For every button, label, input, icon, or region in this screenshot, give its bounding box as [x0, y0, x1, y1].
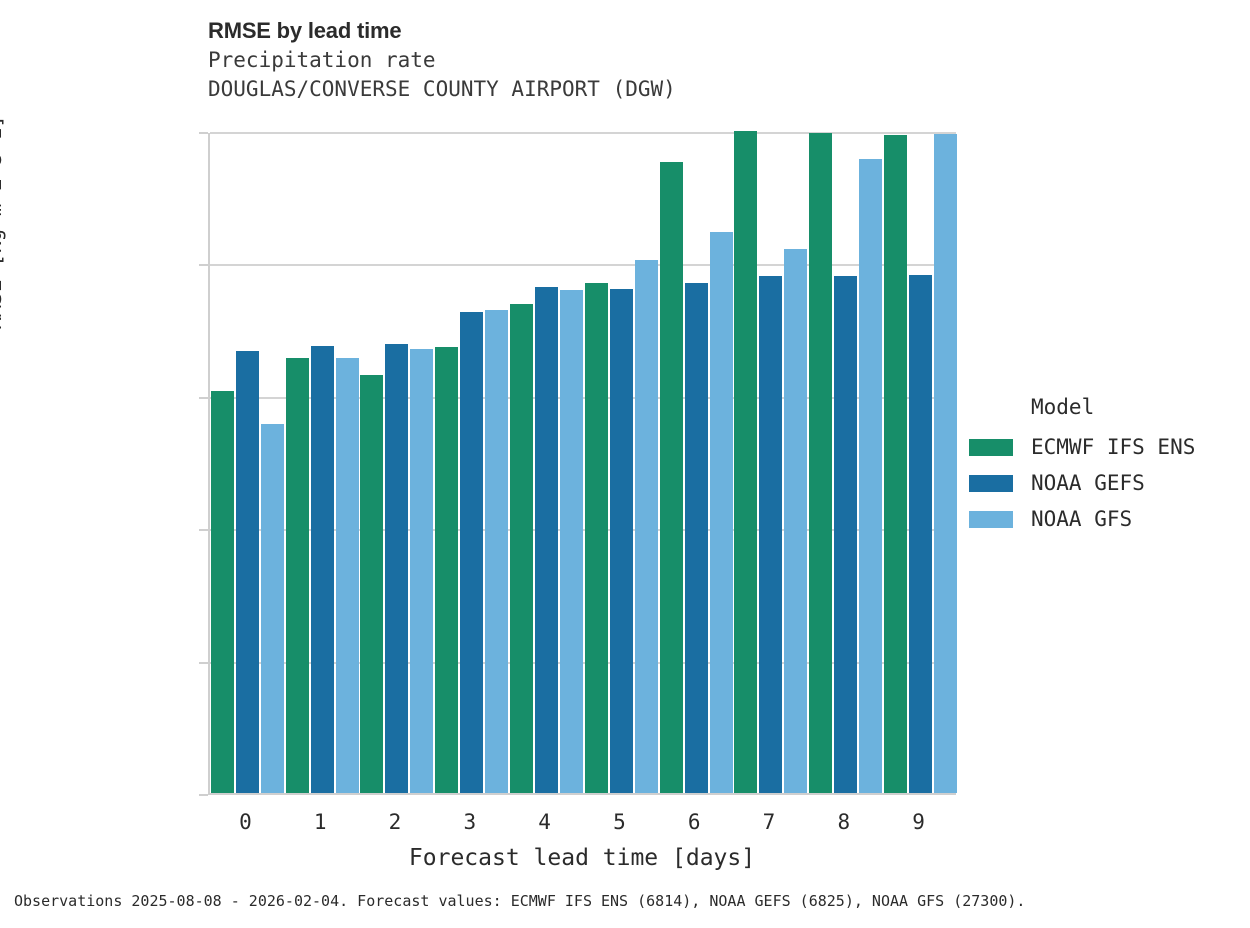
- x-axis-tick-label: 6: [688, 810, 701, 834]
- x-axis-tick-label: 9: [912, 810, 925, 834]
- legend-item-label: ECMWF IFS ENS: [1031, 435, 1195, 459]
- legend-item[interactable]: NOAA GEFS: [969, 465, 1195, 501]
- legend-item[interactable]: NOAA GFS: [969, 501, 1195, 537]
- bar[interactable]: [560, 290, 583, 793]
- x-axis-tick-label: 4: [538, 810, 551, 834]
- bar-group: [285, 133, 360, 793]
- bar-group: [734, 133, 809, 793]
- bar[interactable]: [909, 275, 932, 793]
- bar[interactable]: [809, 133, 832, 793]
- bar[interactable]: [784, 249, 807, 793]
- bar[interactable]: [286, 358, 309, 793]
- plot-area: [208, 133, 956, 795]
- chart-subtitle-station: DOUGLAS/CONVERSE COUNTY AIRPORT (DGW): [208, 75, 968, 104]
- bar[interactable]: [610, 289, 633, 793]
- bar[interactable]: [934, 134, 957, 793]
- x-axis-tick-label: 5: [613, 810, 626, 834]
- bar-group: [584, 133, 659, 793]
- y-axis-tick: [199, 397, 208, 399]
- bar[interactable]: [385, 344, 408, 793]
- legend-item-label: NOAA GFS: [1031, 507, 1132, 531]
- bar[interactable]: [336, 358, 359, 793]
- x-axis-tick-label: 3: [463, 810, 476, 834]
- bars-layer: [210, 133, 956, 793]
- bar[interactable]: [261, 424, 284, 793]
- bar[interactable]: [211, 391, 234, 793]
- bar[interactable]: [734, 131, 757, 793]
- bar[interactable]: [410, 349, 433, 793]
- legend-entries: ECMWF IFS ENSNOAA GEFSNOAA GFS: [969, 429, 1195, 537]
- bar[interactable]: [834, 276, 857, 793]
- bar[interactable]: [311, 346, 334, 793]
- bar-group: [808, 133, 883, 793]
- x-axis-tick-label: 1: [314, 810, 327, 834]
- y-axis-tick: [199, 662, 208, 664]
- legend: Model ECMWF IFS ENSNOAA GEFSNOAA GFS: [969, 395, 1195, 537]
- bar[interactable]: [460, 312, 483, 793]
- footer-note: Observations 2025-08-08 - 2026-02-04. Fo…: [14, 892, 1025, 910]
- legend-item-label: NOAA GEFS: [1031, 471, 1145, 495]
- bar-group: [883, 133, 958, 793]
- chart-page: RMSE by lead time Precipitation rate DOU…: [0, 0, 1250, 928]
- bar[interactable]: [435, 347, 458, 793]
- bar[interactable]: [710, 232, 733, 793]
- bar[interactable]: [585, 283, 608, 793]
- legend-swatch-icon: [969, 511, 1013, 528]
- x-axis-tick-label: 7: [763, 810, 776, 834]
- legend-swatch-icon: [969, 439, 1013, 456]
- bar[interactable]: [660, 162, 683, 793]
- bar-group: [360, 133, 435, 793]
- bar[interactable]: [236, 351, 259, 793]
- y-axis-tick: [199, 794, 208, 796]
- page-title: RMSE by lead time: [208, 16, 968, 46]
- bar-group: [210, 133, 285, 793]
- bar[interactable]: [485, 310, 508, 793]
- y-axis-tick: [199, 132, 208, 134]
- bar[interactable]: [510, 304, 533, 793]
- bar[interactable]: [360, 375, 383, 793]
- y-axis-tick: [199, 264, 208, 266]
- chart-subtitle-variable: Precipitation rate: [208, 46, 968, 75]
- bar-group: [434, 133, 509, 793]
- x-axis-title: Forecast lead time [days]: [208, 845, 956, 871]
- bar[interactable]: [535, 287, 558, 793]
- x-axis-tick-label: 2: [389, 810, 402, 834]
- bar-group: [659, 133, 734, 793]
- legend-item[interactable]: ECMWF IFS ENS: [969, 429, 1195, 465]
- y-axis-title: RMSE [kg m-2 s-1]: [0, 115, 6, 330]
- x-axis-tick-label: 0: [239, 810, 252, 834]
- bar[interactable]: [859, 159, 882, 793]
- legend-title: Model: [1031, 395, 1195, 419]
- y-axis-tick: [199, 529, 208, 531]
- title-block: RMSE by lead time Precipitation rate DOU…: [208, 16, 968, 104]
- bar[interactable]: [685, 283, 708, 793]
- legend-swatch-icon: [969, 475, 1013, 492]
- bar-group: [509, 133, 584, 793]
- x-axis-tick-label: 8: [837, 810, 850, 834]
- bar[interactable]: [759, 276, 782, 793]
- bar[interactable]: [884, 135, 907, 793]
- bar[interactable]: [635, 260, 658, 793]
